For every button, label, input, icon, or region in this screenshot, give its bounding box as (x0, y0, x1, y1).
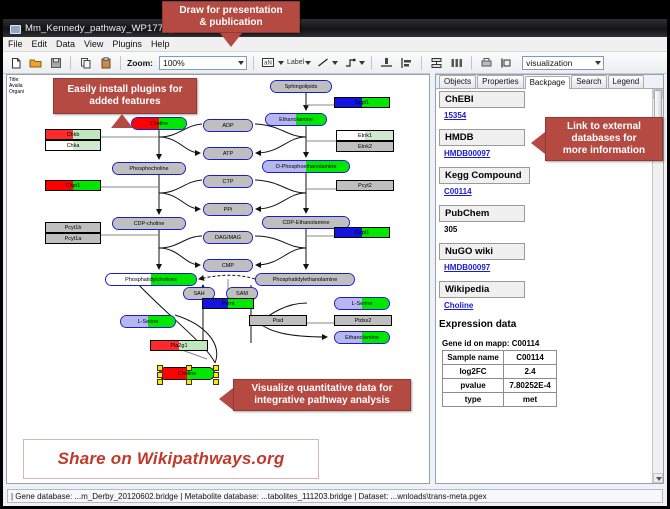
node-label: PPi (224, 207, 233, 213)
print-icon[interactable] (478, 54, 495, 71)
metabolite-node[interactable]: L-Serine (120, 315, 176, 328)
node-label: Ptdss2 (355, 318, 372, 324)
gene-node[interactable]: Pisd (249, 315, 307, 326)
table-row: type met (443, 393, 557, 407)
node-label: L-Serine (138, 319, 159, 325)
tab-backpage[interactable]: Backpage (525, 76, 571, 89)
copy-icon[interactable] (77, 54, 94, 71)
tab-properties[interactable]: Properties (477, 75, 523, 88)
open-folder-icon[interactable] (27, 54, 44, 71)
chevron-down-icon (359, 61, 365, 65)
gene-node[interactable]: Etnk1 (336, 130, 394, 141)
metabolite-node[interactable]: Phosphocholine (112, 162, 186, 175)
section-kegg: Kegg Compound C00114 (439, 167, 652, 196)
toolbar-separator-3 (253, 56, 254, 70)
section-title-kegg: Kegg Compound (439, 167, 530, 184)
side-panel-tabs: Objects Properties Backpage Search Legen… (436, 75, 663, 89)
node-label: ATP (223, 151, 233, 157)
table-row: Sample name C00114 (443, 351, 557, 365)
metabolite-node[interactable]: Phosphatidylethanolamine (255, 273, 355, 286)
node-label: Pcyt1a (65, 236, 82, 242)
scroll-down-icon[interactable] (653, 473, 663, 483)
callout-share: Share on Wikipathways.org (23, 439, 319, 479)
node-label: CDP-Ethanolamine (282, 220, 329, 226)
visualization-value: visualization (526, 58, 572, 68)
distribute-icon[interactable] (448, 54, 465, 71)
chevron-down-icon (595, 61, 601, 65)
selection-handle[interactable] (213, 365, 219, 371)
cell-value: 7.80252E-4 (504, 379, 557, 393)
section-title-pubchem: PubChem (439, 205, 525, 222)
node-label: Pisd (273, 318, 284, 324)
gene-node[interactable]: Pcyt1a (45, 233, 101, 244)
menu-item-edit[interactable]: Edit (32, 39, 48, 49)
callout-link-text: Link to externaldatabases formore inform… (563, 121, 645, 157)
callout-plugins: Easily install plugins foradded features (53, 78, 197, 114)
metabolite-node[interactable]: O-Phosphoethanolamine (262, 160, 350, 173)
gene-node[interactable]: Cept1 (334, 227, 390, 238)
node-label: Phosphocholine (129, 166, 168, 172)
metabolite-node[interactable]: CDP-choline (112, 217, 186, 230)
node-label: Ethanolamine (345, 335, 379, 341)
cell-value: 2.4 (504, 365, 557, 379)
node-label: Sgpl1 (355, 100, 369, 106)
metabolite-node[interactable]: Phosphatidylcholines (105, 273, 197, 286)
node-label: CDP-choline (134, 221, 165, 227)
metabolite-node[interactable]: Choline (131, 117, 187, 130)
chevron-down-icon (332, 61, 338, 65)
toolbar-separator-4 (371, 56, 372, 70)
metabolite-node[interactable]: CMP (203, 259, 253, 272)
metabolite-node[interactable]: ADP (203, 119, 253, 132)
section-chebi: ChEBI 15354 (439, 91, 652, 120)
pathway-metadata: Title: Availa Organi (9, 77, 24, 95)
metabolite-node[interactable]: CTP (203, 175, 253, 188)
datanode-type-dropdown[interactable]: aN (260, 54, 284, 71)
gene-id-label: Gene id on mapp: C00114 (442, 339, 652, 348)
meta-organism: Organi (9, 89, 24, 95)
tab-search[interactable]: Search (571, 75, 606, 88)
gene-node[interactable]: Pemt (202, 298, 254, 309)
callout-plugins-arrow (111, 114, 133, 128)
menu-item-data[interactable]: Data (56, 39, 75, 49)
screenshot-root: Mm_Kennedy_pathway_WP1771_45176.gpml Fil… (0, 0, 670, 509)
callout-share-text: Share on Wikipathways.org (58, 449, 285, 469)
cell-key: log2FC (443, 365, 504, 379)
node-label: SAM (236, 291, 248, 297)
node-label: Chpt1 (66, 183, 81, 189)
node-label: Pcyt1b (65, 225, 82, 231)
label-dropdown[interactable]: Label (287, 59, 311, 66)
chevron-down-icon (305, 61, 311, 65)
pathvisio-window: Mm_Kennedy_pathway_WP1771_45176.gpml Fil… (2, 18, 668, 507)
node-label: Etnk2 (358, 144, 372, 150)
chevron-down-icon (238, 61, 244, 65)
node-label: Phosphatidylcholines (125, 277, 177, 283)
callout-draw-arrow (220, 33, 242, 47)
application-icon (9, 23, 20, 34)
node-label: Ethanolamine (279, 117, 313, 123)
cell-value: C00114 (504, 351, 557, 365)
gene-node[interactable]: Chpt1 (45, 180, 101, 191)
zoom-combobox[interactable]: 100% (159, 56, 247, 70)
node-label: O-Phosphoethanolamine (276, 164, 337, 170)
toolbar-separator-1 (70, 56, 71, 70)
toolbar: Zoom: 100% aN Label (3, 52, 667, 74)
stack-vertical-icon[interactable] (428, 54, 445, 71)
tab-objects[interactable]: Objects (439, 75, 476, 88)
datanode-icon[interactable]: aN (260, 54, 277, 71)
svg-text:aN: aN (265, 61, 273, 67)
gene-node[interactable]: Pcyt1b (45, 222, 101, 233)
gene-node[interactable]: Etnk2 (336, 141, 394, 152)
metabolite-node[interactable]: DAG/MAG (203, 231, 253, 244)
order-icon[interactable] (498, 54, 515, 71)
cell-key: pvalue (443, 379, 504, 393)
toolbar-separator-6 (471, 56, 472, 70)
section-title-chebi: ChEBI (439, 91, 525, 108)
selection-handle[interactable] (213, 372, 219, 378)
label-dropdown-text: Label (287, 59, 304, 66)
menu-bar: File Edit Data View Plugins Help (3, 37, 667, 52)
metabolite-node[interactable]: PPi (203, 203, 253, 216)
metabolite-node[interactable]: Choline (159, 367, 215, 380)
selection-handle[interactable] (157, 365, 163, 371)
node-label: SAH (193, 291, 204, 297)
callout-link: Link to externaldatabases formore inform… (545, 117, 663, 161)
menu-item-file[interactable]: File (8, 39, 23, 49)
callout-visualize-text: Visualize quantitative data forintegrati… (252, 383, 393, 407)
menu-item-plugins[interactable]: Plugins (112, 39, 142, 49)
zoom-value: 100% (163, 58, 185, 68)
value-pubchem: 305 (444, 225, 652, 234)
cell-value: met (504, 393, 557, 407)
menu-item-help[interactable]: Help (151, 39, 170, 49)
callout-visualize: Visualize quantitative data forintegrati… (233, 379, 411, 411)
section-title-hmdb: HMDB (439, 129, 525, 146)
metabolite-node[interactable]: ATP (203, 147, 253, 160)
link-wikipedia[interactable]: Choline (444, 301, 652, 310)
status-text: | Gene database: ...m_Derby_20120602.bri… (7, 489, 663, 503)
callout-plugins-text: Easily install plugins foradded features (67, 84, 182, 108)
section-pubchem: PubChem 305 (439, 205, 652, 234)
section-title-wikipedia: Wikipedia (439, 281, 525, 298)
gene-node[interactable]: Ptdss2 (334, 315, 392, 326)
gene-node[interactable]: Chka (45, 140, 101, 151)
pathway-canvas[interactable]: Title: Availa Organi (6, 74, 430, 484)
toolbar-separator-5 (421, 56, 422, 70)
section-wikipedia: Wikipedia Choline (439, 281, 652, 310)
section-title-nugo: NuGO wiki (439, 243, 525, 260)
node-label: DAG/MAG (215, 235, 241, 241)
node-label: Choline (150, 121, 169, 127)
visualization-combobox[interactable]: visualization (522, 56, 604, 70)
gene-node[interactable]: Pcyt2 (336, 180, 394, 191)
chevron-down-icon (278, 61, 284, 65)
tab-legend[interactable]: Legend (608, 75, 645, 88)
node-label: CMP (222, 263, 234, 269)
align-top-icon[interactable] (378, 54, 395, 71)
line-dropdown[interactable] (314, 54, 338, 71)
node-label: Pcyt2 (358, 183, 372, 189)
section-nugo: NuGO wiki HMDB00097 (439, 243, 652, 272)
link-nugo[interactable]: HMDB00097 (444, 263, 652, 272)
paste-icon[interactable] (97, 54, 114, 71)
metabolite-node[interactable]: L-Serine (334, 297, 390, 310)
cell-key: type (443, 393, 504, 407)
callout-draw-text: Draw for presentation& publication (179, 5, 282, 29)
new-document-icon[interactable] (7, 54, 24, 71)
selection-handle[interactable] (157, 379, 163, 385)
gene-node[interactable]: Sgpl1 (334, 97, 390, 108)
link-kegg[interactable]: C00114 (444, 187, 652, 196)
zoom-label: Zoom: (127, 58, 153, 68)
callout-draw: Draw for presentation& publication (162, 1, 300, 33)
selection-handle[interactable] (186, 379, 192, 385)
expression-table: Sample name C00114 log2FC 2.4 pvalue 7.8… (442, 350, 557, 407)
node-label: Phosphatidylethanolamine (273, 277, 338, 283)
selection-handle[interactable] (213, 379, 219, 385)
node-label: Cept1 (355, 230, 370, 236)
node-label: Pla2g1 (170, 343, 187, 349)
node-label: Chka (67, 143, 80, 149)
save-icon[interactable] (47, 54, 64, 71)
status-bar: | Gene database: ...m_Derby_20120602.bri… (3, 486, 667, 506)
callout-link-arrow (531, 132, 545, 154)
gene-node[interactable]: Chkb (45, 129, 101, 140)
metabolite-node[interactable]: Ethanolamine (265, 113, 327, 126)
callout-visualize-arrow (219, 388, 233, 410)
gene-node[interactable]: Pla2g1 (150, 340, 208, 351)
window-titlebar: Mm_Kennedy_pathway_WP1771_45176.gpml (3, 19, 667, 37)
table-row: pvalue 7.80252E-4 (443, 379, 557, 393)
line-icon[interactable] (314, 54, 331, 71)
node-label: Choline (178, 371, 197, 377)
expression-data-title: Expression data (439, 319, 652, 330)
align-left-icon[interactable] (398, 54, 415, 71)
metabolite-node[interactable]: Sphingolipids (270, 80, 332, 93)
toolbar-separator-2 (120, 56, 121, 70)
node-label: CTP (223, 179, 234, 185)
node-label: Pemt (222, 301, 235, 307)
node-label: Sphingolipids (285, 84, 318, 90)
node-label: Etnk1 (358, 133, 372, 139)
interaction-dropdown[interactable] (341, 54, 365, 71)
node-label: ADP (222, 123, 233, 129)
node-label: L-Serine (352, 301, 373, 307)
table-row: log2FC 2.4 (443, 365, 557, 379)
node-label: Chkb (67, 132, 80, 138)
menu-item-view[interactable]: View (84, 39, 103, 49)
selection-handle[interactable] (157, 372, 163, 378)
metabolite-node[interactable]: Ethanolamine (334, 331, 390, 344)
cell-key: Sample name (443, 351, 504, 365)
interaction-icon[interactable] (341, 54, 358, 71)
